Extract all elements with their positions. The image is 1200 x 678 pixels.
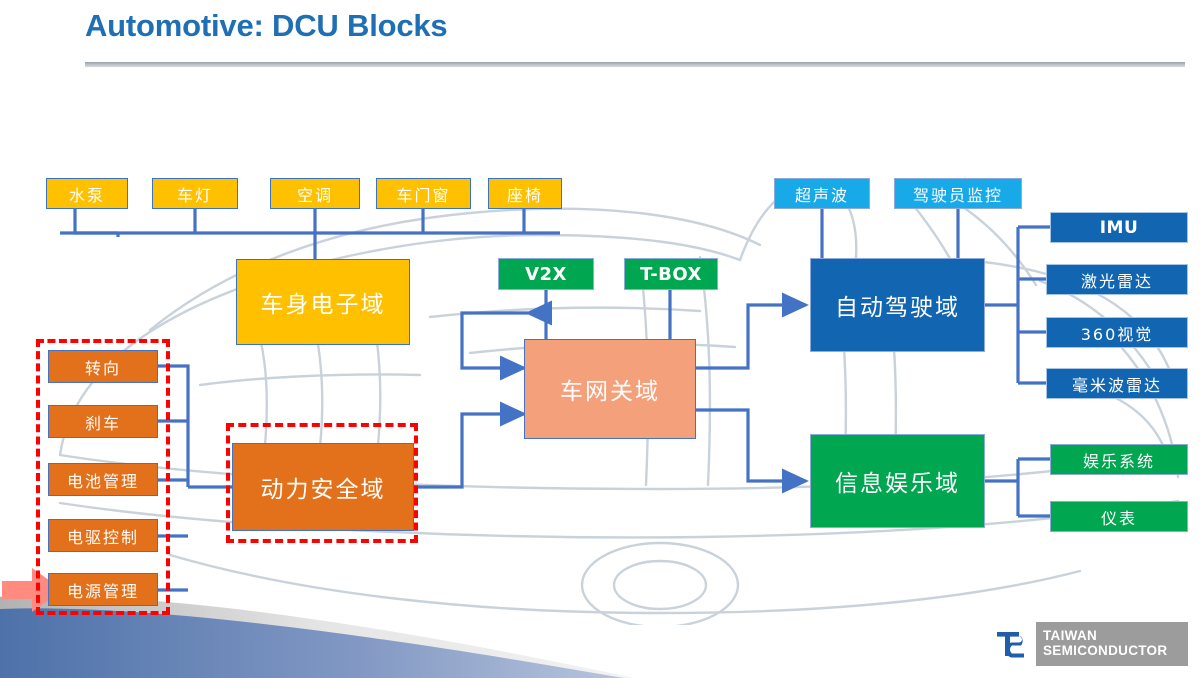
ts-logo-mark-icon bbox=[990, 622, 1036, 666]
node-brake[interactable]: 刹车 bbox=[48, 405, 158, 438]
node-steering[interactable]: 转向 bbox=[48, 350, 158, 383]
company-logo: TAIWAN SEMICONDUCTOR bbox=[990, 622, 1188, 666]
node-doors-windows[interactable]: 车门窗 bbox=[376, 178, 471, 209]
logo-wordmark: TAIWAN SEMICONDUCTOR bbox=[1036, 622, 1188, 666]
logo-line-1: TAIWAN bbox=[1043, 629, 1188, 644]
node-infotainment-domain[interactable]: 信息娱乐域 bbox=[810, 434, 985, 528]
node-tbox[interactable]: T-BOX bbox=[624, 258, 718, 290]
node-v2x[interactable]: V2X bbox=[498, 258, 594, 290]
node-360-vision[interactable]: 360视觉 bbox=[1046, 317, 1188, 348]
node-seats[interactable]: 座椅 bbox=[488, 178, 562, 209]
ts-monogram-icon bbox=[995, 629, 1031, 659]
node-lidar[interactable]: 激光雷达 bbox=[1046, 264, 1188, 295]
node-driver-monitoring[interactable]: 驾驶员监控 bbox=[894, 178, 1022, 209]
node-imu[interactable]: IMU bbox=[1050, 212, 1188, 243]
node-entertainment-system[interactable]: 娱乐系统 bbox=[1050, 444, 1188, 475]
title-divider bbox=[85, 62, 1185, 67]
slide-canvas: Automotive: DCU Blocks bbox=[0, 0, 1200, 678]
logo-line-2: SEMICONDUCTOR bbox=[1043, 644, 1188, 659]
page-title: Automotive: DCU Blocks bbox=[85, 8, 447, 44]
node-air-conditioner[interactable]: 空调 bbox=[270, 178, 360, 209]
node-ultrasonic[interactable]: 超声波 bbox=[774, 178, 870, 209]
node-power-management[interactable]: 电源管理 bbox=[48, 573, 158, 606]
node-headlight[interactable]: 车灯 bbox=[152, 178, 238, 209]
node-body-electronics-domain[interactable]: 车身电子域 bbox=[236, 259, 410, 345]
node-water-pump[interactable]: 水泵 bbox=[46, 178, 128, 209]
node-powertrain-safety-domain[interactable]: 动力安全域 bbox=[232, 443, 414, 531]
node-instrument-cluster[interactable]: 仪表 bbox=[1050, 501, 1188, 532]
node-battery-management[interactable]: 电池管理 bbox=[48, 463, 158, 496]
node-millimeter-wave-radar[interactable]: 毫米波雷达 bbox=[1046, 368, 1188, 399]
node-motor-drive-control[interactable]: 电驱控制 bbox=[48, 519, 158, 552]
node-vehicle-gateway-domain[interactable]: 车网关域 bbox=[524, 339, 696, 439]
node-autonomous-driving-domain[interactable]: 自动驾驶域 bbox=[810, 258, 985, 352]
